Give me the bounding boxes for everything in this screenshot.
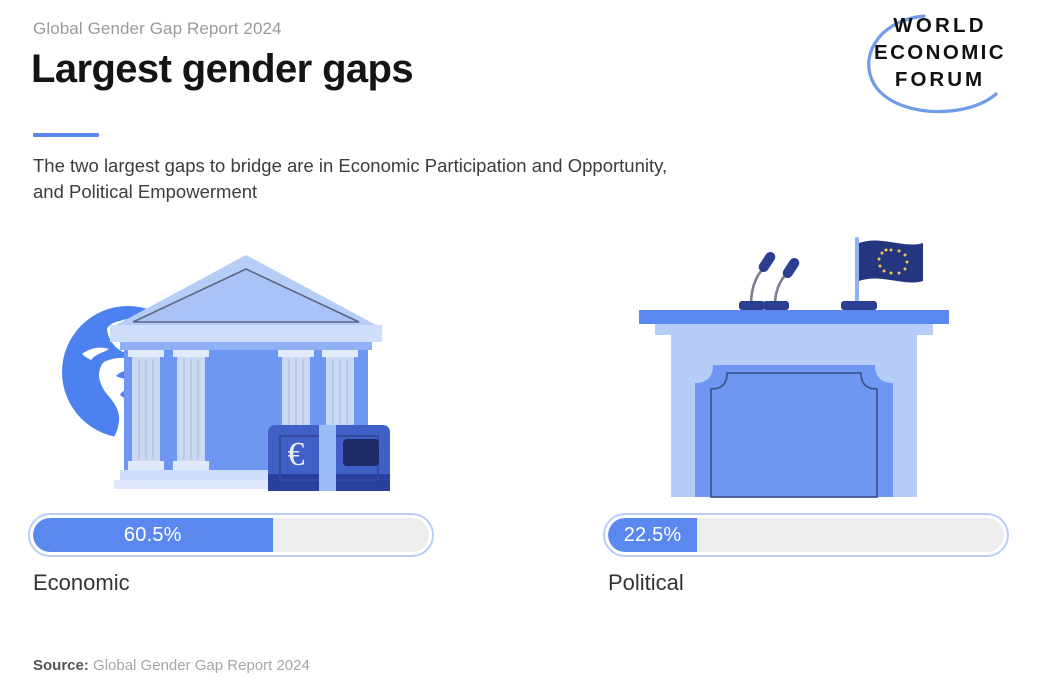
progress-fill: 60.5% <box>33 518 273 552</box>
progress-value-label: 60.5% <box>124 524 182 547</box>
microphones-icon <box>739 250 801 310</box>
world-economic-forum-logo: WORLD ECONOMIC FORUM <box>846 6 1034 118</box>
logo-line-world: WORLD <box>846 6 1034 39</box>
progress-bar-political[interactable]: 22.5% <box>603 513 1009 557</box>
panel-label-economic: Economic <box>33 570 130 596</box>
progress-track: 22.5% <box>608 518 1004 552</box>
panel-economic: € 60.5% Economic <box>28 225 438 625</box>
logo-wordmark: WORLD ECONOMIC FORUM <box>846 6 1034 93</box>
progress-track: 60.5% <box>33 518 429 552</box>
progress-fill: 22.5% <box>608 518 697 552</box>
economic-illustration: € <box>28 225 438 507</box>
logo-line-economic: ECONOMIC <box>846 39 1034 66</box>
page-subtitle: The two largest gaps to bridge are in Ec… <box>33 153 673 205</box>
podium-microphones-flag-icon <box>603 225 1013 507</box>
source-line: Source: Global Gender Gap Report 2024 <box>33 657 310 674</box>
bank-globe-banknote-icon: € <box>28 225 438 507</box>
source-text: Global Gender Gap Report 2024 <box>93 657 310 674</box>
logo-line-forum: FORUM <box>846 66 1034 93</box>
source-prefix: Source: <box>33 657 89 674</box>
infographic-canvas: Global Gender Gap Report 2024 Largest ge… <box>0 0 1044 692</box>
progress-value-label: 22.5% <box>624 524 682 547</box>
eu-flag-icon <box>841 237 923 310</box>
page-title: Largest gender gaps <box>31 47 413 92</box>
panel-political: 22.5% Political <box>603 225 1013 625</box>
accent-rule-divider <box>33 133 99 137</box>
report-kicker: Global Gender Gap Report 2024 <box>33 19 282 39</box>
political-illustration <box>603 225 1013 507</box>
panel-label-political: Political <box>608 570 684 596</box>
progress-bar-economic[interactable]: 60.5% <box>28 513 434 557</box>
svg-text:€: € <box>288 436 305 473</box>
euro-banknote-icon: € <box>268 425 390 491</box>
